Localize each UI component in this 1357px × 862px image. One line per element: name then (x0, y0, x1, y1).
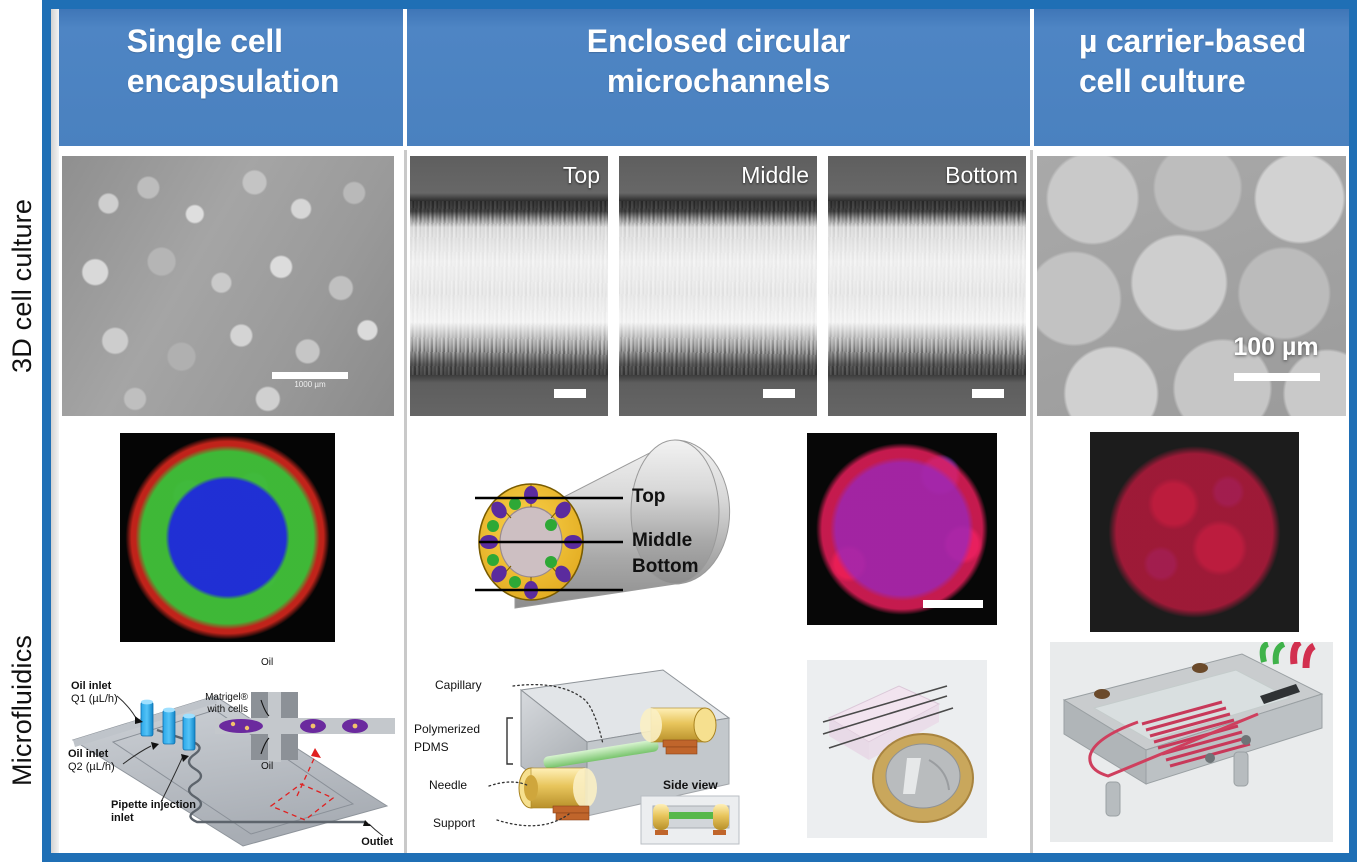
cell-microfluidics-microcarrier-based-cell-culture (1034, 420, 1349, 853)
microchannel-image-top: Top (410, 156, 608, 416)
label-oil-top: Oil (261, 657, 273, 668)
label-capillary: Capillary (435, 678, 482, 692)
label-line: Oil inlet (71, 680, 111, 692)
scale-bar (554, 389, 586, 398)
header-line-1: Enclosed circular (587, 23, 850, 59)
cell-3d-microcarrier-based-cell-culture: 100 µm (1034, 150, 1349, 416)
scale-bar (763, 389, 795, 398)
cell-3d-enclosed-circular-microchannels: Top Middle Bottom (407, 150, 1030, 416)
label-side-view: Side view (663, 778, 718, 792)
scale-bar-label: 1000 µm (272, 380, 348, 389)
label-line: with cells (207, 704, 248, 715)
cylinder-label-middle: Middle (632, 530, 692, 552)
microchannel-label-top: Top (563, 162, 600, 189)
scale-bar-label: 100 µm (1216, 333, 1336, 362)
row-label-microfluidics: Microfluidics (0, 580, 44, 840)
pdms-device-schematic: Capillary Polymerized PDMS Needle Suppor… (413, 656, 743, 850)
cylinder-svg (465, 430, 765, 630)
scale-bar (1234, 373, 1320, 381)
label-oil-bottom: Oil (261, 761, 273, 772)
header-divider-1 (403, 9, 407, 146)
column-header-enclosed-circular-microchannels: Enclosed circular microchannels (407, 9, 1030, 146)
label-line: Pipette injection (111, 799, 196, 811)
label-needle: Needle (429, 778, 467, 792)
figure-grid: Single cell encapsulation Enclosed circu… (59, 9, 1349, 853)
header-divider-2 (1030, 9, 1034, 146)
scale-bar (923, 600, 983, 608)
label-line: Oil inlet (68, 748, 108, 760)
label-line: Matrigel® (205, 692, 248, 703)
organoid-fluorescence-image (120, 433, 335, 642)
cylinder-label-bottom: Bottom (632, 556, 698, 578)
label-line: Q2 (µL/h) (68, 761, 115, 773)
pdms-device-coin-photo (807, 660, 987, 838)
carrier-fluorescence-image (1090, 432, 1299, 632)
frame-right-edge (1349, 0, 1357, 862)
microchannel-image-bottom: Bottom (828, 156, 1026, 416)
column-header-single-cell-encapsulation: Single cell encapsulation (59, 9, 403, 146)
row-label-3d-cell-culture: 3D cell culture (0, 152, 44, 420)
coin-photo-svg (807, 660, 987, 838)
scale-bar (972, 389, 1004, 398)
microchannel-image-middle: Middle (619, 156, 817, 416)
carrier-chip-svg (1050, 642, 1333, 842)
column-header-title: Single cell encapsulation (113, 9, 350, 102)
column-separator-2 (1030, 150, 1033, 853)
cell-microfluidics-single-cell-encapsulation: Oil inlet Q1 (µL/h) Oil inlet Q2 (µL/h) … (59, 420, 403, 853)
label-matrigel-with-cells: Matrigel® with cells (186, 692, 248, 716)
row-labels: 3D cell culture Microfluidics (0, 0, 44, 862)
microchannel-label-middle: Middle (741, 162, 809, 189)
label-line: Polymerized (414, 722, 480, 736)
column-header-title: µ carrier-based cell culture (1067, 9, 1316, 102)
header-line-1: µ carrier-based (1079, 23, 1306, 59)
channel-fluorescence-image (807, 433, 997, 625)
header-line-2: encapsulation (127, 63, 340, 99)
carrier-chip-photo (1050, 642, 1333, 842)
label-oil-inlet-2: Oil inlet Q2 (µL/h) (68, 748, 115, 775)
frame-inner-edge (51, 9, 59, 853)
header-line-2: cell culture (1079, 63, 1246, 99)
label-oil-inlet-1: Oil inlet Q1 (µL/h) (71, 680, 118, 707)
label-line: Q1 (µL/h) (71, 693, 118, 705)
column-header-title: Enclosed circular microchannels (577, 9, 860, 102)
label-line: PDMS (414, 740, 449, 754)
cell-microfluidics-enclosed-circular-microchannels: Top Middle Bottom (407, 420, 1030, 853)
cell-3d-single-cell-encapsulation: 1000 µm (59, 150, 403, 416)
header-line-1: Single cell (127, 23, 283, 59)
label-polymerized-pdms: Polymerized PDMS (414, 720, 480, 756)
droplet-chip-schematic: Oil inlet Q1 (µL/h) Oil inlet Q2 (µL/h) … (65, 656, 395, 850)
label-support: Support (433, 816, 475, 830)
label-outlet: Outlet (361, 836, 393, 848)
scale-bar (272, 372, 348, 379)
column-header-microcarrier-based-cell-culture: µ carrier-based cell culture (1034, 9, 1349, 146)
label-pipette-injection-inlet: Pipette injection inlet (111, 799, 196, 826)
cylinder-label-top: Top (632, 486, 665, 508)
cylinder-cross-section-diagram: Top Middle Bottom (465, 430, 765, 630)
label-line: inlet (111, 812, 134, 824)
microchannel-label-bottom: Bottom (945, 162, 1018, 189)
figure-root: 3D cell culture Microfluidics Single cel… (0, 0, 1357, 862)
header-line-2: microchannels (607, 63, 830, 99)
